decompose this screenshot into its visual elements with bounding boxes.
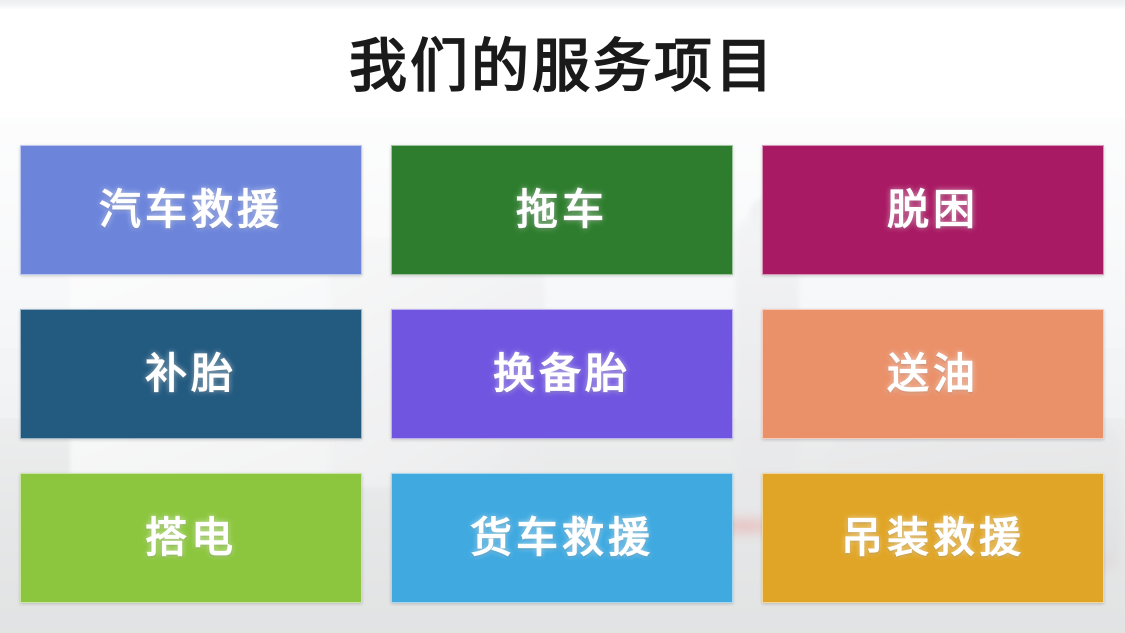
service-tile-fuel-delivery[interactable]: 送油 — [762, 309, 1104, 439]
service-tile-label: 补胎 — [145, 353, 237, 395]
service-tile-jump-start[interactable]: 搭电 — [20, 473, 362, 603]
service-tile-label: 搭电 — [145, 517, 237, 559]
service-tile-grid: 汽车救援 拖车 脱困 补胎 换备胎 送油 搭电 货车救援 吊装救援 — [20, 145, 1105, 603]
service-tile-car-rescue[interactable]: 汽车救援 — [20, 145, 362, 275]
service-tile-label: 汽车救援 — [99, 189, 283, 231]
service-tile-extrication[interactable]: 脱困 — [762, 145, 1104, 275]
service-tile-spare-tire-change[interactable]: 换备胎 — [391, 309, 733, 439]
top-edge-band — [0, 0, 1125, 9]
slide-root: 我们的服务项目 汽车救援 拖车 脱困 补胎 换备胎 送油 搭电 货车救援 吊装救… — [0, 0, 1125, 633]
title-area: 我们的服务项目 — [0, 16, 1125, 116]
service-tile-label: 吊装救援 — [841, 517, 1025, 559]
service-tile-label: 脱困 — [887, 189, 979, 231]
service-tile-label: 货车救援 — [470, 517, 654, 559]
service-tile-hoisting-rescue[interactable]: 吊装救援 — [762, 473, 1104, 603]
service-tile-tire-repair[interactable]: 补胎 — [20, 309, 362, 439]
service-tile-label: 拖车 — [516, 189, 608, 231]
page-title: 我们的服务项目 — [349, 37, 776, 95]
service-tile-tow-truck[interactable]: 拖车 — [391, 145, 733, 275]
service-tile-label: 送油 — [887, 353, 979, 395]
service-tile-truck-rescue[interactable]: 货车救援 — [391, 473, 733, 603]
service-tile-label: 换备胎 — [493, 353, 631, 395]
